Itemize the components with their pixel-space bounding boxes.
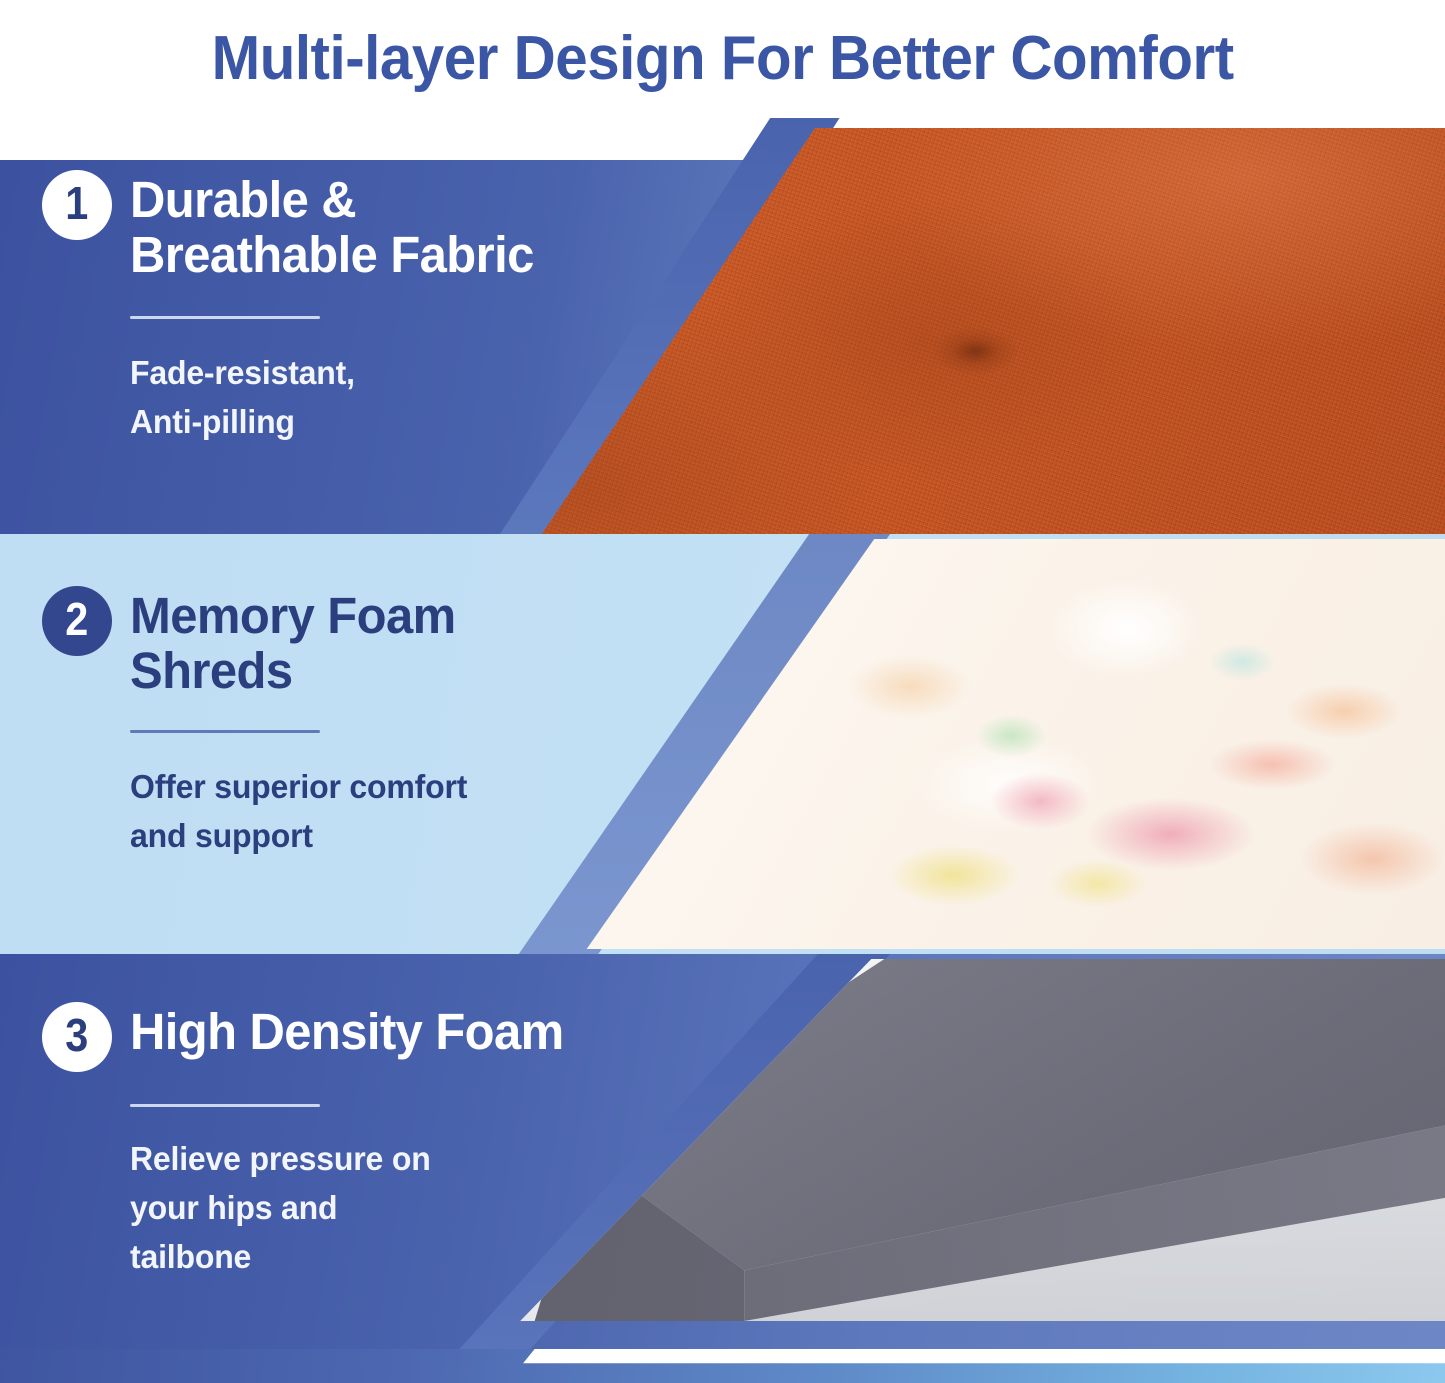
section-1-content: 1 Durable & Breathable Fabric Fade-resis… (42, 170, 602, 447)
section-3-number-badge: 3 (42, 1002, 112, 1072)
section-3-number-label: 3 (65, 1012, 88, 1058)
page-title: Multi-layer Design For Better Comfort (211, 28, 1233, 90)
section-2-body-line-1: Offer superior comfort (130, 763, 588, 812)
section-1-number-label: 1 (65, 180, 88, 226)
feature-section-3: 3 High Density Foam Relieve pressure on … (0, 954, 1445, 1349)
section-2-body-line-2: and support (130, 812, 588, 861)
section-2-heading-row: 2 Memory Foam Shreds (42, 586, 602, 698)
section-1-divider (130, 316, 320, 319)
section-2-number-label: 2 (65, 596, 88, 642)
section-1-title: Durable & Breathable Fabric (130, 170, 583, 282)
section-3-content: 3 High Density Foam Relieve pressure on … (42, 1002, 602, 1281)
section-1-body-line-1: Fade-resistant, (130, 349, 588, 398)
section-3-heading-row: 3 High Density Foam (42, 1002, 602, 1072)
header-banner: Multi-layer Design For Better Comfort (0, 0, 1445, 118)
section-2-title: Memory Foam Shreds (130, 586, 583, 698)
section-1-heading-row: 1 Durable & Breathable Fabric (42, 170, 602, 282)
section-2-divider (130, 730, 320, 733)
feature-section-1: 1 Durable & Breathable Fabric Fade-resis… (0, 118, 1445, 534)
section-2-content: 2 Memory Foam Shreds Offer superior comf… (42, 586, 602, 861)
section-1-number-badge: 1 (42, 170, 112, 240)
footer-strip-notch (0, 1349, 1445, 1383)
section-1-body-line-2: Anti-pilling (130, 398, 588, 447)
section-3-title: High Density Foam (130, 1002, 564, 1059)
feature-section-2: 2 Memory Foam Shreds Offer superior comf… (0, 534, 1445, 954)
footer-gradient-strip (0, 1349, 1445, 1383)
section-3-body-line-2: your hips and (130, 1184, 588, 1233)
section-3-body-line-1: Relieve pressure on (130, 1135, 588, 1184)
section-3-body-line-3: tailbone (130, 1233, 588, 1282)
section-3-divider (130, 1104, 320, 1107)
section-2-number-badge: 2 (42, 586, 112, 656)
